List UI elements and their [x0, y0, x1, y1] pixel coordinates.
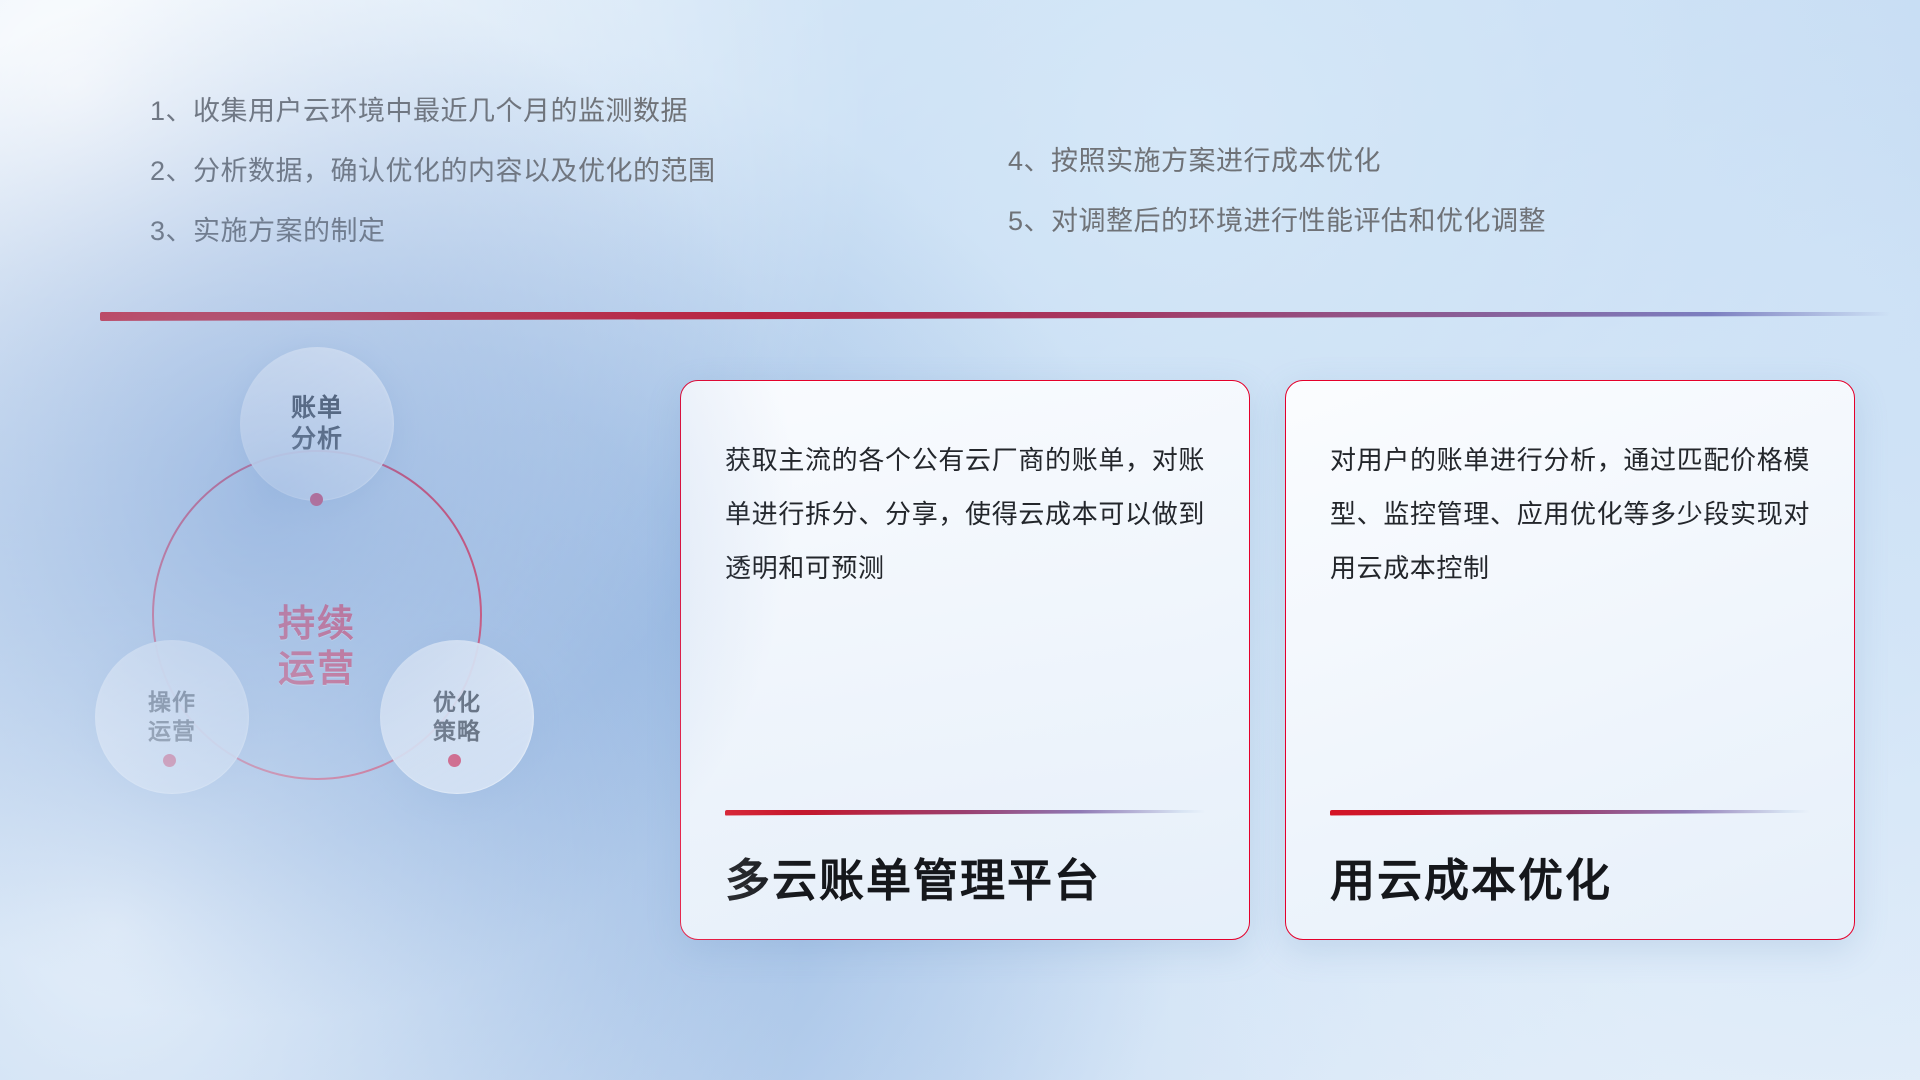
card-divider: [725, 810, 1205, 816]
continuous-operation-diagram: 账单 分析 操作 运营 优化 策略 持续 运营: [95, 350, 615, 910]
list-item: 2、分析数据，确认优化的内容以及优化的范围: [150, 158, 716, 185]
card-title: 多云账单管理平台: [725, 856, 1205, 906]
diagram-center-label: 持续 运营: [152, 450, 482, 780]
slide-background: 1、收集用户云环境中最近几个月的监测数据 2、分析数据，确认优化的内容以及优化的…: [0, 0, 1920, 1080]
card-divider: [1330, 810, 1810, 816]
list-item: 4、按照实施方案进行成本优化: [1008, 148, 1546, 175]
process-list-left: 1、收集用户云环境中最近几个月的监测数据 2、分析数据，确认优化的内容以及优化的…: [150, 98, 716, 278]
process-list-right: 4、按照实施方案进行成本优化 5、对调整后的环境进行性能评估和优化调整: [1008, 148, 1546, 268]
center-label-line2: 运营: [278, 646, 356, 691]
list-item: 5、对调整后的环境进行性能评估和优化调整: [1008, 208, 1546, 235]
node-dot-right-icon: [448, 754, 461, 767]
card-cloud-cost-optimization[interactable]: 对用户的账单进行分析，通过匹配价格模型、监控管理、应用优化等多少段实现对用云成本…: [1285, 380, 1855, 940]
diagram-node-optimization-strategy[interactable]: 优化 策略: [380, 640, 534, 794]
node-label-line2: 分析: [291, 424, 343, 456]
list-item: 3、实施方案的制定: [150, 218, 716, 245]
section-divider: [100, 312, 1890, 321]
center-label-line1: 持续: [278, 601, 356, 646]
node-label-line1: 操作: [148, 688, 196, 717]
node-label-line2: 策略: [433, 717, 481, 746]
node-label-line1: 优化: [433, 688, 481, 717]
diagram-node-bill-analysis[interactable]: 账单 分析: [240, 347, 394, 501]
diagram-node-operation[interactable]: 操作 运营: [95, 640, 249, 794]
card-body-text: 获取主流的各个公有云厂商的账单，对账单进行拆分、分享，使得云成本可以做到透明和可…: [725, 433, 1205, 595]
node-label-line1: 账单: [291, 393, 343, 425]
node-label-line2: 运营: [148, 717, 196, 746]
card-multicloud-billing-platform[interactable]: 获取主流的各个公有云厂商的账单，对账单进行拆分、分享，使得云成本可以做到透明和可…: [680, 380, 1250, 940]
card-body-text: 对用户的账单进行分析，通过匹配价格模型、监控管理、应用优化等多少段实现对用云成本…: [1330, 433, 1810, 595]
node-dot-top-icon: [310, 493, 323, 506]
list-item: 1、收集用户云环境中最近几个月的监测数据: [150, 98, 716, 125]
center-ring: [152, 450, 482, 780]
card-title: 用云成本优化: [1330, 856, 1810, 906]
node-dot-left-icon: [163, 754, 176, 767]
